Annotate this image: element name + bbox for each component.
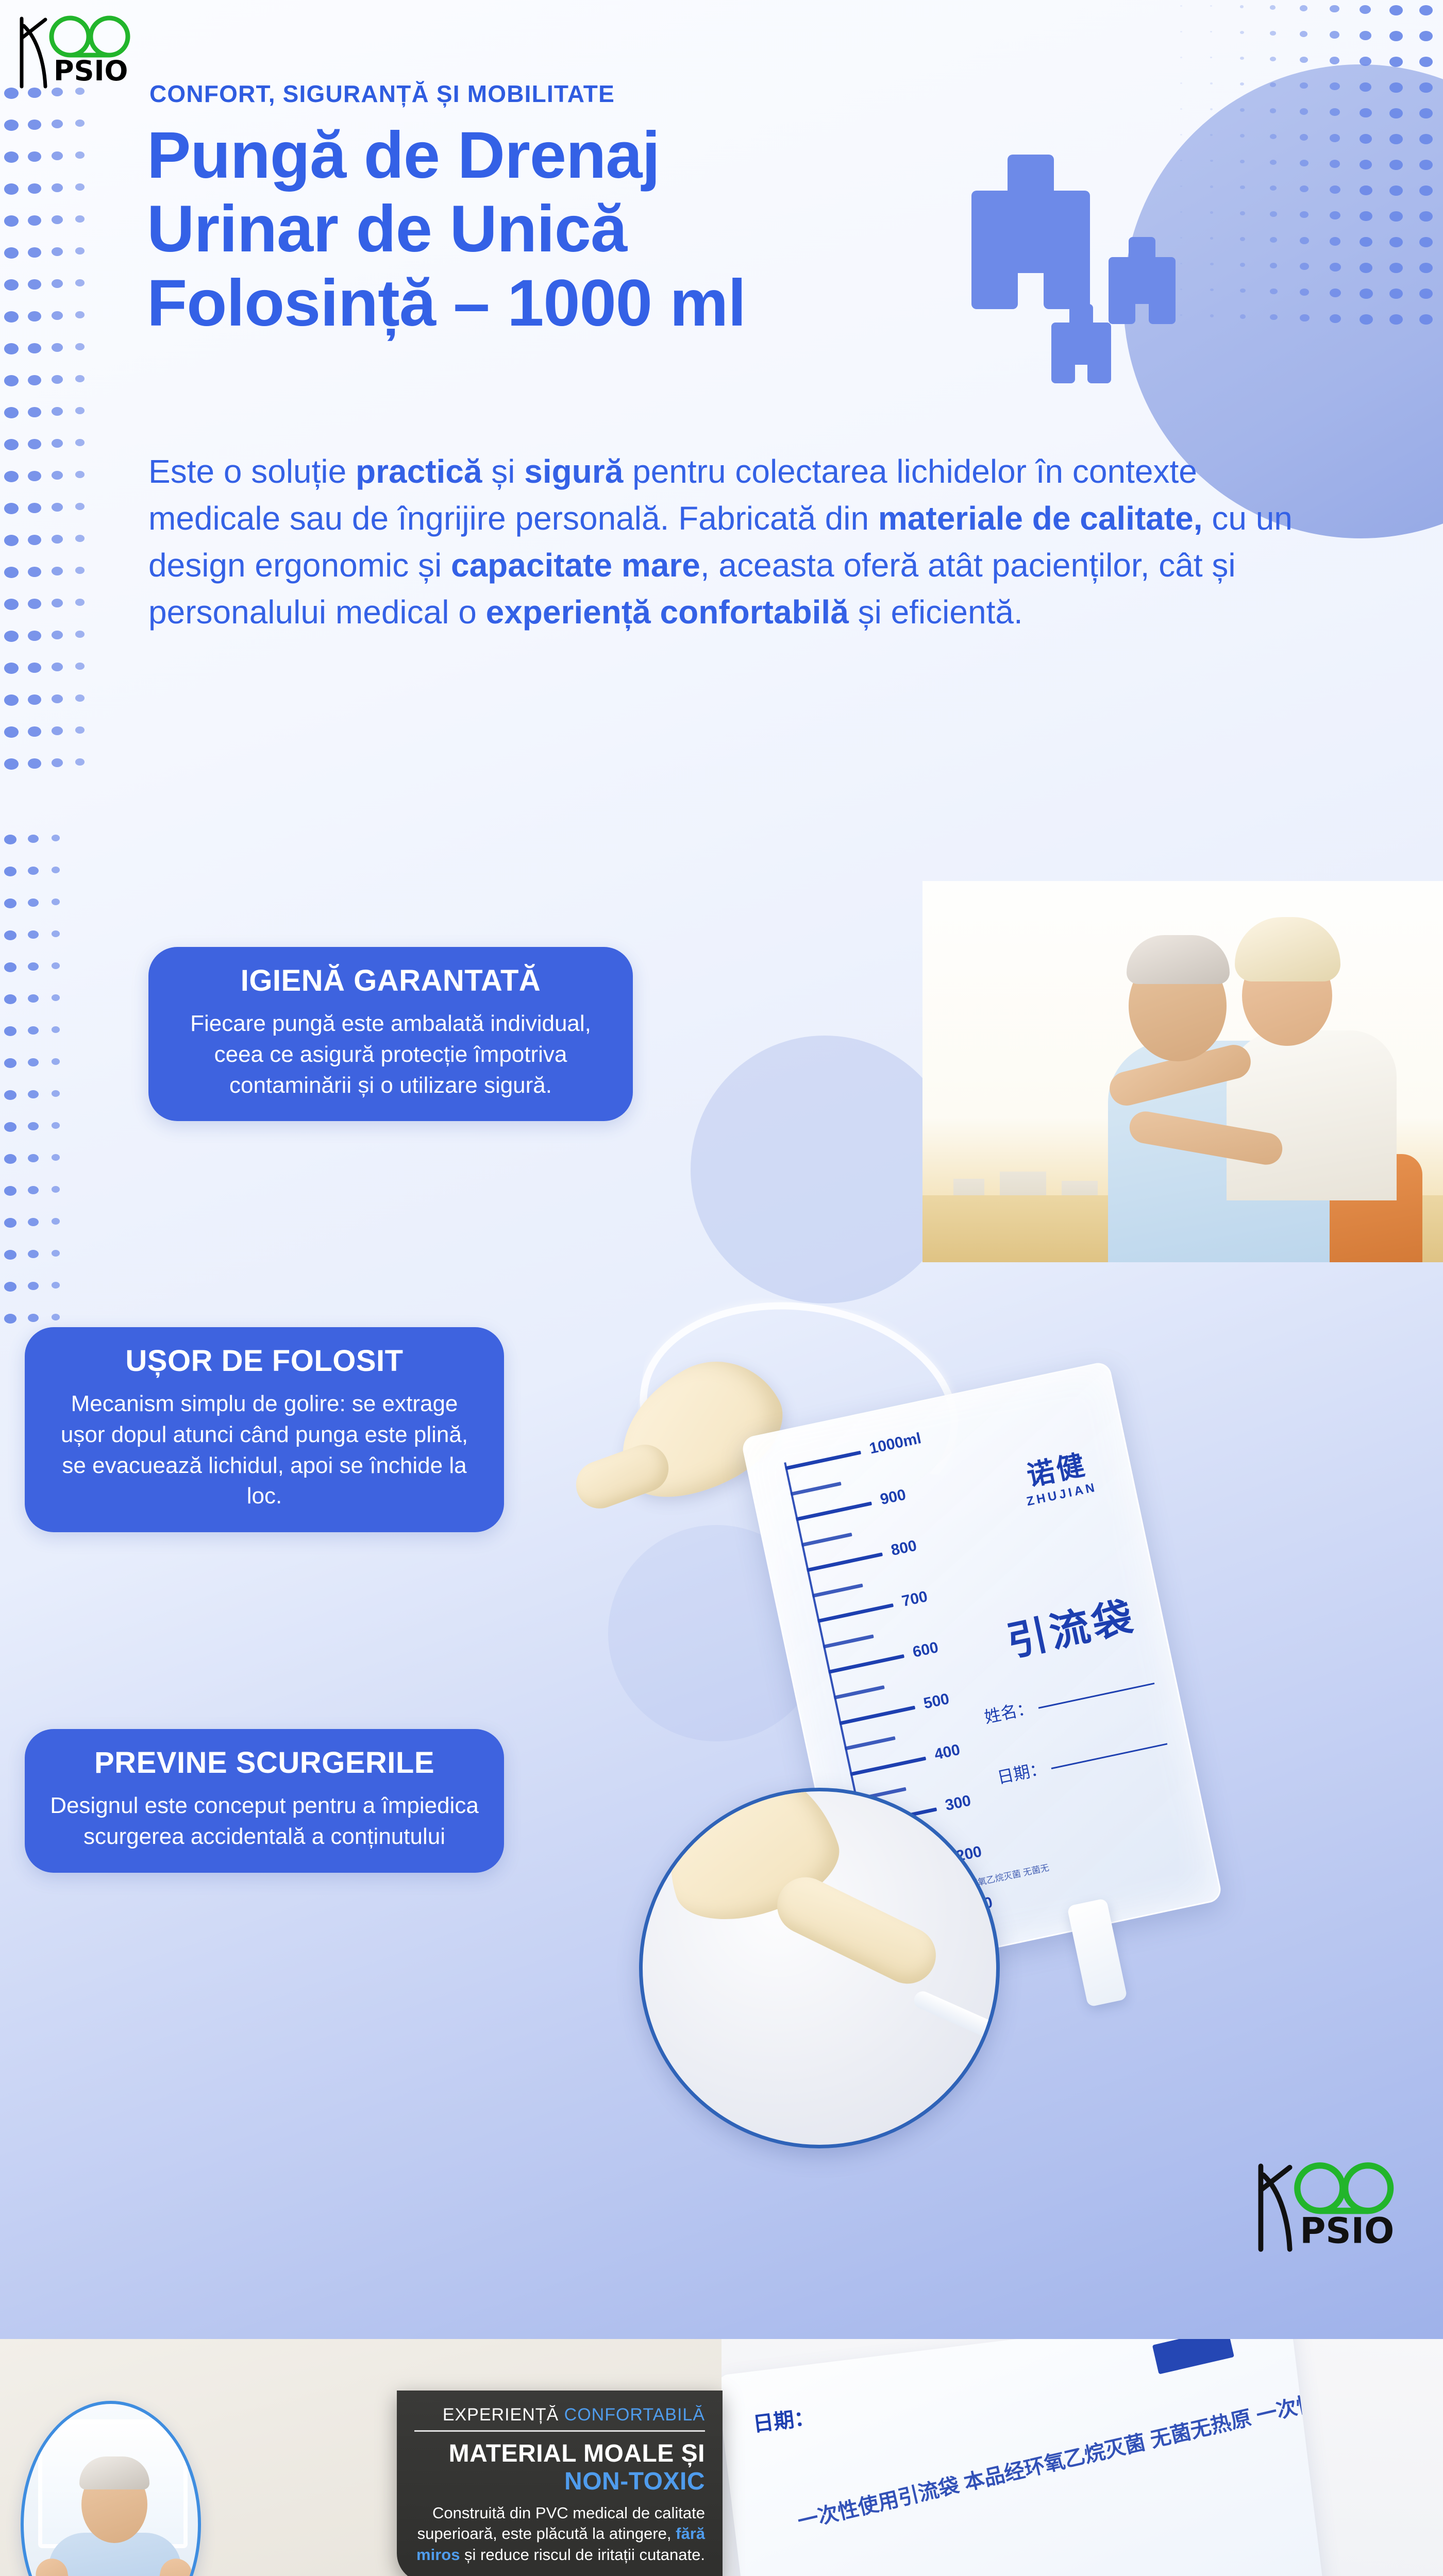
feature-card-body: Designul este conceput pentru a împiedic…: [47, 1790, 481, 1852]
feature-card-title: IGIENĂ GARANTATĂ: [171, 964, 610, 998]
intro-t2: și: [482, 453, 524, 490]
feature-card-body: Fiecare pungă este ambalată individual, …: [171, 1008, 610, 1100]
medical-cross-icon-medium: [1129, 237, 1155, 304]
svg-text:PSIO: PSIO: [1300, 2211, 1394, 2252]
bag-brand-label: 诺健 ZHUJIAN: [1017, 1440, 1098, 1510]
photo-bottom-right: 日期： 一次性使用引流袋 本品经环氧乙烷灭菌 无菌无热原 一次性使用: [721, 2339, 1443, 2576]
brand-logo[interactable]: PSIO: [11, 8, 150, 96]
page-title: Pungă de Drenaj Urinar de Unică Folosinț…: [147, 118, 1126, 340]
intro-b5: experiență confortabilă: [486, 594, 849, 631]
intro-t6: și eficientă.: [849, 594, 1023, 631]
hero-intro-paragraph: Este o soluție practică și sigură pentru…: [148, 448, 1303, 636]
feature-card-hygiene[interactable]: IGIENĂ GARANTATĂ Fiecare pungă este amba…: [148, 947, 633, 1121]
bag-fine-print-right: 一次性使用引流袋 本品经环氧乙烷灭菌 无菌无热原 一次性使用: [794, 2377, 1346, 2535]
photo-product-drainage-bag: 1000ml900800700600500400300200100 诺健 ZHU…: [484, 1267, 1443, 2154]
feature-card-body: Mecanism simplu de golire: se extrage uș…: [47, 1388, 481, 1512]
product-funnel-neck: [569, 1438, 675, 1515]
info-desc-2: și reduce riscul de iritații cutanate.: [460, 2546, 705, 2564]
info-title: MATERIAL MOALE ȘI NON-TOXIC: [414, 2440, 705, 2496]
info-title-line-1: MATERIAL MOALE ȘI: [414, 2440, 705, 2468]
decor-dot-grid-left-lower: [4, 835, 76, 1350]
info-title-line-2: NON-TOXIC: [414, 2468, 705, 2496]
intro-b4: capacitate mare: [451, 547, 700, 584]
brand-logo-hero-footer[interactable]: PSIO: [1248, 2154, 1418, 2251]
feature-card-title: PREVINE SCURGERILE: [47, 1747, 481, 1780]
info-overlay-soft-material: EXPERIENȚĂ CONFORTABILĂ MATERIAL MOALE Ș…: [397, 2391, 723, 2576]
feature-card-title: UȘOR DE FOLOSIT: [47, 1345, 481, 1378]
decor-dot-grid-top-right: [1180, 5, 1443, 335]
photo-elderly-couple: [922, 881, 1443, 1262]
hero-section: PSIO CONFORT, SIGURANȚĂ ȘI MOBILITATE Pu…: [0, 0, 1443, 2339]
bag-field-date-right: 日期：: [751, 2400, 816, 2437]
svg-text:PSIO: PSIO: [54, 55, 128, 87]
title-line-1: Pungă de Drenaj: [147, 118, 1126, 192]
info-description: Construită din PVC medical de calitate s…: [414, 2503, 705, 2566]
feature-card-leak-prevention[interactable]: PREVINE SCURGERILE Designul este concepu…: [25, 1729, 504, 1873]
product-closeup-inset: [639, 1788, 1000, 2148]
decor-dot-grid-left: [4, 88, 97, 778]
intro-t1: Este o soluție: [148, 453, 356, 490]
info-desc-1: Construită din PVC medical de calitate s…: [417, 2504, 705, 2543]
intro-b1: practică: [356, 453, 482, 490]
feature-card-easy-to-use[interactable]: UȘOR DE FOLOSIT Mecanism simplu de golir…: [25, 1327, 504, 1532]
intro-b2: sigură: [524, 453, 623, 490]
bag-closeup-right: 日期： 一次性使用引流袋 本品经环氧乙烷灭菌 无菌无热原 一次性使用: [721, 2339, 1346, 2576]
intro-b3: materiale de calitate,: [878, 500, 1203, 537]
hero-eyebrow: CONFORT, SIGURANȚĂ ȘI MOBILITATE: [149, 80, 615, 108]
info-kicker-plain: EXPERIENȚĂ: [443, 2405, 564, 2425]
avatar-thumbs-up-man: [21, 2401, 201, 2576]
info-kicker-highlight: CONFORTABILĂ: [564, 2405, 705, 2425]
title-line-3: Folosință – 1000 ml: [147, 266, 1126, 340]
title-line-2: Urinar de Unică: [147, 192, 1126, 266]
decor-circle-soft-1: [691, 1036, 959, 1303]
info-kicker: EXPERIENȚĂ CONFORTABILĂ: [414, 2405, 705, 2432]
